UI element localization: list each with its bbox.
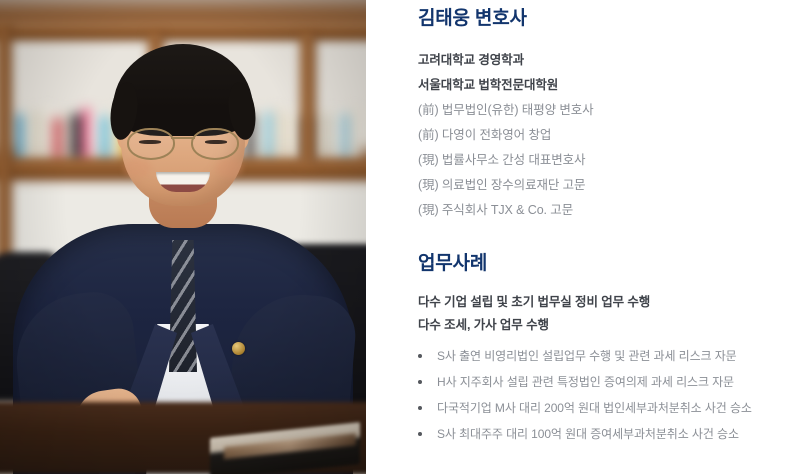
list-item: 다국적기업 M사 대리 200억 원대 법인세부과처분취소 사건 승소	[418, 395, 794, 421]
page-title: 김태웅 변호사	[418, 0, 794, 34]
list-item: S사 출연 비영리법인 설립업무 수행 및 관련 과세 리스크 자문	[418, 343, 794, 369]
bullet-dot-icon	[418, 354, 422, 358]
career-line: (現) 법률사무소 간성 대표변호사	[418, 148, 794, 173]
eyeglasses-icon	[125, 128, 241, 158]
lens-left	[127, 128, 175, 160]
glasses-bridge	[171, 137, 195, 139]
profile-content: 김태웅 변호사 고려대학교 경영학과 서울대학교 법학전문대학원 (前) 법무법…	[366, 0, 794, 447]
education-career-block: 고려대학교 경영학과 서울대학교 법학전문대학원 (前) 법무법인(유한) 태평…	[418, 48, 794, 223]
lawyer-lapel-badge-icon	[232, 342, 245, 355]
list-item-label: S사 최대주주 대리 100억 원대 증여세부과처분취소 사건 승소	[437, 427, 739, 441]
bullet-dot-icon	[418, 406, 422, 410]
list-item-label: H사 지주회사 설립 관련 특정법인 증여의제 과세 리스크 자문	[437, 375, 734, 389]
lawyer-portrait-photo	[0, 0, 366, 474]
photo-canvas	[0, 0, 366, 474]
case-list: S사 출연 비영리법인 설립업무 수행 및 관련 과세 리스크 자문 H사 지주…	[418, 343, 794, 447]
career-line: (現) 의료법인 장수의료재단 고문	[418, 173, 794, 198]
education-line: 서울대학교 법학전문대학원	[418, 73, 794, 98]
career-line: (前) 법무법인(유한) 태평양 변호사	[418, 98, 794, 123]
bullet-dot-icon	[418, 432, 422, 436]
case-summary-line: 다수 조세, 가사 업무 수행	[418, 314, 794, 337]
section-title-cases: 업무사례	[418, 241, 794, 279]
career-line: (現) 주식회사 TJX & Co. 고문	[418, 198, 794, 223]
list-item: S사 최대주주 대리 100억 원대 증여세부과처분취소 사건 승소	[418, 421, 794, 447]
section-spacer	[418, 223, 794, 241]
education-line: 고려대학교 경영학과	[418, 48, 794, 73]
hair	[113, 44, 253, 136]
cheek-left	[123, 158, 151, 178]
bullet-dot-icon	[418, 380, 422, 384]
cheek-right	[215, 158, 243, 178]
striped-necktie	[169, 240, 197, 372]
list-item-label: S사 출연 비영리법인 설립업무 수행 및 관련 과세 리스크 자문	[437, 349, 737, 363]
case-summary-line: 다수 기업 설립 및 초기 법무실 정비 업무 수행	[418, 291, 794, 314]
lens-right	[191, 128, 239, 160]
profile-page: 김태웅 변호사 고려대학교 경영학과 서울대학교 법학전문대학원 (前) 법무법…	[0, 0, 794, 474]
list-item-label: 다국적기업 M사 대리 200억 원대 법인세부과처분취소 사건 승소	[437, 401, 752, 415]
career-line: (前) 다영이 전화영어 창업	[418, 123, 794, 148]
list-item: H사 지주회사 설립 관련 특정법인 증여의제 과세 리스크 자문	[418, 369, 794, 395]
